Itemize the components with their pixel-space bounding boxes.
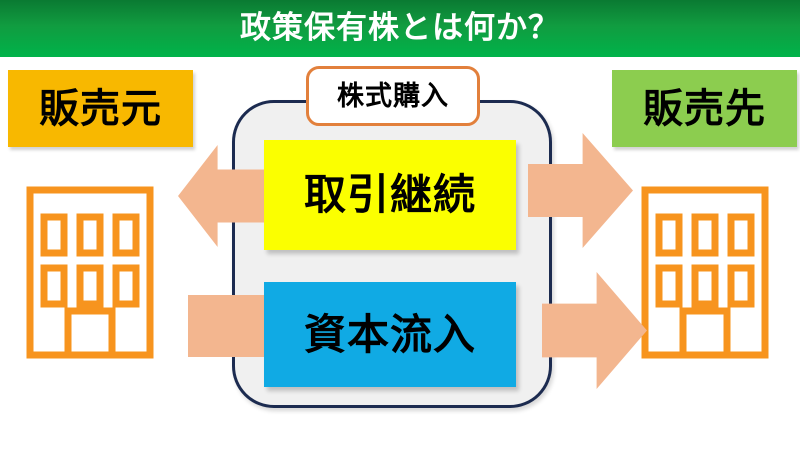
slide-canvas: 政策保有株とは何か？ 販売元 販売先	[0, 0, 800, 450]
page-title: 政策保有株とは何か？	[240, 13, 560, 44]
center-box-transaction-continuation: 取引継続	[264, 140, 516, 250]
right-party-label-box: 販売先	[612, 70, 797, 147]
center-box-capital-inflow: 資本流入	[264, 282, 516, 387]
title-banner: 政策保有株とは何か？	[0, 0, 800, 57]
office-building-icon-left	[25, 185, 155, 360]
center-box-label-1: 資本流入	[304, 314, 476, 356]
center-box-label-0: 取引継続	[304, 174, 476, 216]
left-party-label-box: 販売元	[8, 70, 193, 147]
office-building-icon-right	[640, 185, 770, 360]
arrow-right-icon-lower	[542, 272, 647, 389]
left-party-label-text: 販売元	[39, 89, 162, 129]
arrow-left-icon-lower	[188, 295, 266, 357]
right-party-label-text: 販売先	[643, 89, 766, 129]
stock-purchase-badge-label: 株式購入	[337, 83, 449, 110]
stock-purchase-badge: 株式購入	[306, 66, 480, 126]
